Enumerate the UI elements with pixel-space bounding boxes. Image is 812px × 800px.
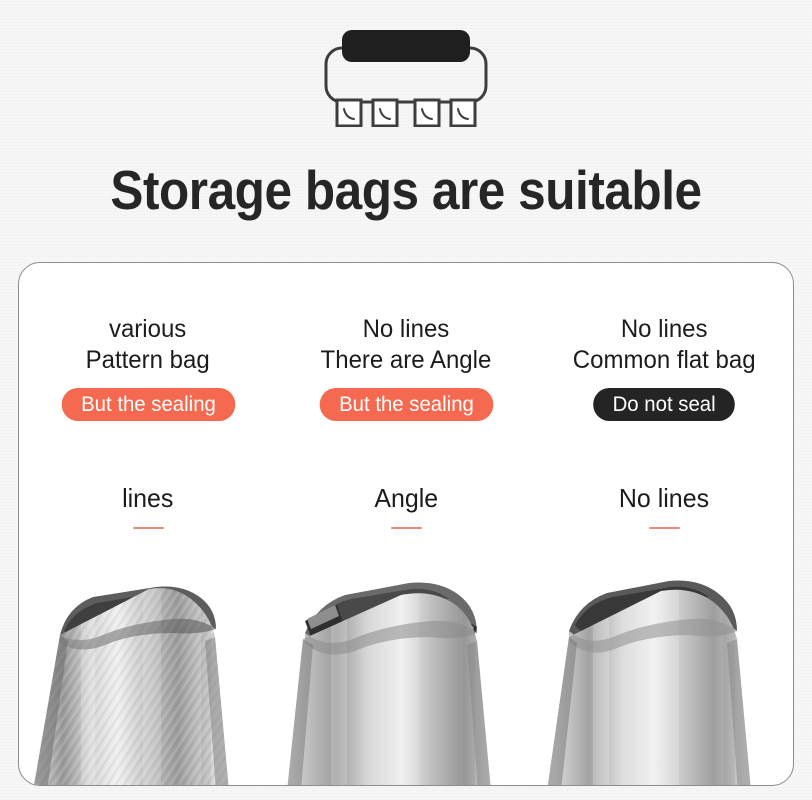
page-title: Storage bags are suitable — [41, 158, 772, 222]
heading-line-1: No lines — [321, 314, 492, 345]
bag-feature-label: Angle — [374, 483, 438, 513]
heading-line-2: There are Angle — [321, 345, 492, 376]
heading-line-2: Pattern bag — [86, 345, 210, 376]
label-underline — [133, 527, 164, 529]
bag-image-smooth — [539, 561, 789, 786]
textured-bag-illustration — [23, 561, 273, 786]
label-underline — [391, 527, 422, 529]
column-heading: No lines Common flat bag — [573, 314, 756, 376]
bag-image-textured — [23, 561, 273, 786]
bag-image-gusseted — [281, 561, 531, 786]
bag-feature-label: No lines — [619, 483, 709, 513]
column-angle-bag: No lines There are Angle But the sealing… — [277, 263, 535, 785]
column-heading: No lines There are Angle — [321, 314, 492, 376]
heading-line-1: No lines — [573, 314, 756, 345]
smooth-bag-illustration — [539, 561, 789, 786]
column-pattern-bag: various Pattern bag But the sealing line… — [19, 263, 277, 785]
heading-line-1: various — [86, 314, 210, 345]
label-underline — [649, 527, 680, 529]
status-badge: Do not seal — [593, 388, 735, 421]
sealer-icon-area — [0, 22, 812, 132]
status-badge: But the sealing — [319, 388, 493, 421]
column-heading: various Pattern bag — [86, 314, 210, 376]
gusseted-bag-illustration — [281, 561, 531, 786]
comparison-card: various Pattern bag But the sealing line… — [18, 262, 794, 786]
vacuum-sealer-icon — [321, 22, 491, 127]
comparison-columns: various Pattern bag But the sealing line… — [19, 263, 793, 785]
column-flat-bag: No lines Common flat bag Do not seal No … — [535, 263, 793, 785]
status-badge: But the sealing — [61, 388, 235, 421]
heading-line-2: Common flat bag — [573, 345, 756, 376]
bag-feature-label: lines — [122, 483, 173, 513]
